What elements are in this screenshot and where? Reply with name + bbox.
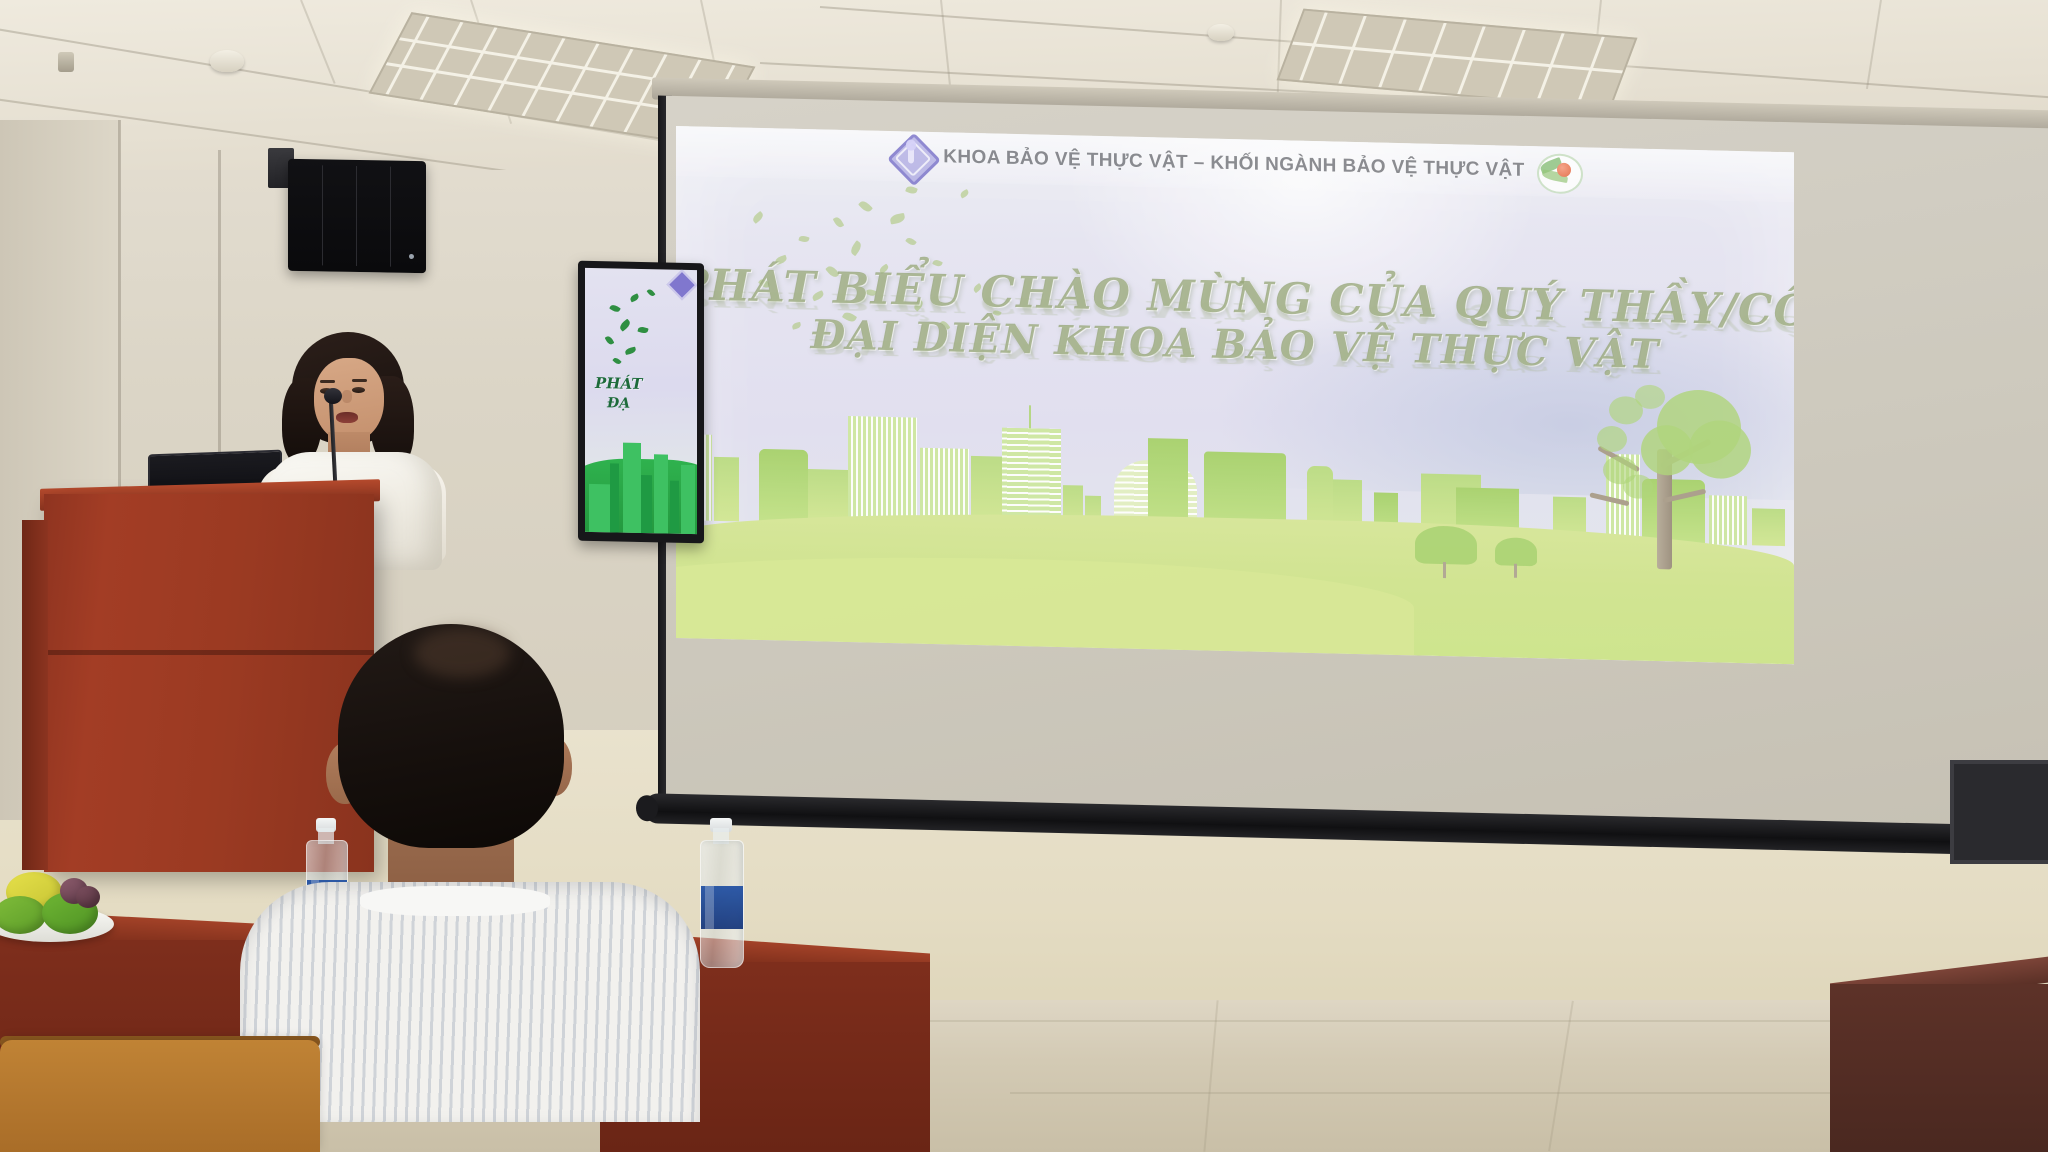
- presenter-mouth: [336, 412, 358, 423]
- slide-bush-large: [1415, 525, 1477, 564]
- audience-member: [320, 624, 580, 924]
- water-bottle-right[interactable]: [700, 818, 742, 968]
- chair-back: [0, 1040, 320, 1152]
- smoke-detector-icon-2: [1208, 24, 1234, 41]
- projection-screen: KHOA BẢO VỆ THỰC VẬT – KHỐI NGÀNH BẢO VỆ…: [666, 96, 2048, 869]
- sprinkler-icon: [58, 52, 74, 72]
- fruit-plum-2: [76, 886, 100, 908]
- smoke-detector-icon: [210, 50, 244, 72]
- speaker-led-icon: [409, 254, 414, 259]
- wall-speaker: [288, 159, 426, 273]
- screenshot-root: KHOA BẢO VỆ THỰC VẬT – KHỐI NGÀNH BẢO VỆ…: [0, 0, 2048, 1152]
- slide-title-block: PHÁT BIỂU CHÀO MỪNG CỦA QUÝ THẦY/CÔ ĐẠI …: [676, 264, 1794, 379]
- audience-hair: [338, 624, 564, 848]
- slide-header-text: KHOA BẢO VỆ THỰC VẬT – KHỐI NGÀNH BẢO VỆ…: [943, 146, 1524, 182]
- side-monitor-screen: PHÁT ĐẠ: [585, 268, 697, 534]
- lectern-side-panel: [22, 520, 48, 870]
- microphone-icon: [324, 388, 342, 404]
- screen-surface: KHOA BẢO VỆ THỰC VẬT – KHỐI NGÀNH BẢO VỆ…: [666, 96, 2048, 829]
- university-emblem-icon: [889, 134, 933, 179]
- audience-collar: [360, 886, 550, 916]
- side-table-right: [1830, 984, 2048, 1152]
- monitor-emblem-icon: [666, 269, 697, 300]
- slide-bush-small: [1495, 537, 1537, 566]
- projected-slide: KHOA BẢO VỆ THỰC VẬT – KHỐI NGÀNH BẢO VỆ…: [676, 126, 1794, 664]
- bottle-label-2: [701, 886, 743, 929]
- monitor-title-line-1: PHÁT: [595, 374, 642, 393]
- slide-tree-graphic: [1579, 377, 1749, 571]
- wall-panel-right: [1950, 760, 2048, 864]
- plant-protection-emblem-icon: [1535, 151, 1581, 192]
- screen-bar-end-cap: [636, 795, 658, 822]
- monitor-title-line-2: ĐẠ: [607, 395, 630, 411]
- side-monitor: PHÁT ĐẠ: [578, 261, 704, 544]
